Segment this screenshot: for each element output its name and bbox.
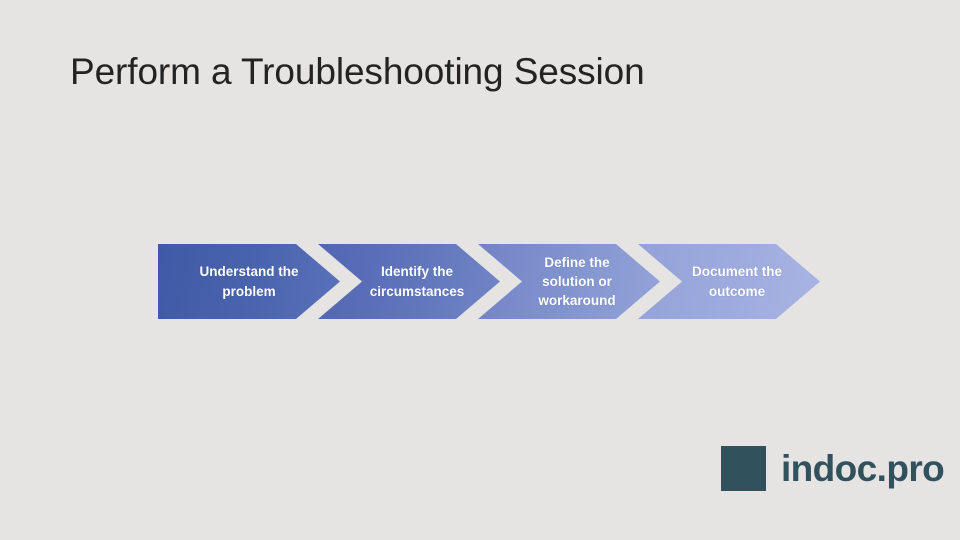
logo-square-icon <box>721 446 766 491</box>
slide-canvas: Perform a Troubleshooting Session Unders… <box>0 0 960 540</box>
process-step-3[interactable]: Define the solution or workaround <box>478 244 660 319</box>
process-step-2-label: Identify the circumstances <box>355 262 479 300</box>
process-step-1-label: Understand the problem <box>186 262 312 300</box>
process-step-4[interactable]: Document the outcome <box>638 244 820 319</box>
process-step-2[interactable]: Identify the circumstances <box>318 244 500 319</box>
page-title: Perform a Troubleshooting Session <box>70 50 890 94</box>
process-step-4-label: Document the outcome <box>675 262 799 300</box>
logo-text: indoc.pro <box>781 450 944 487</box>
process-diagram: Understand the problem Identify the circ… <box>158 244 800 319</box>
brand-logo: indoc.pro <box>721 446 944 491</box>
process-step-1[interactable]: Understand the problem <box>158 244 340 319</box>
process-step-3-label: Define the solution or workaround <box>527 253 627 310</box>
